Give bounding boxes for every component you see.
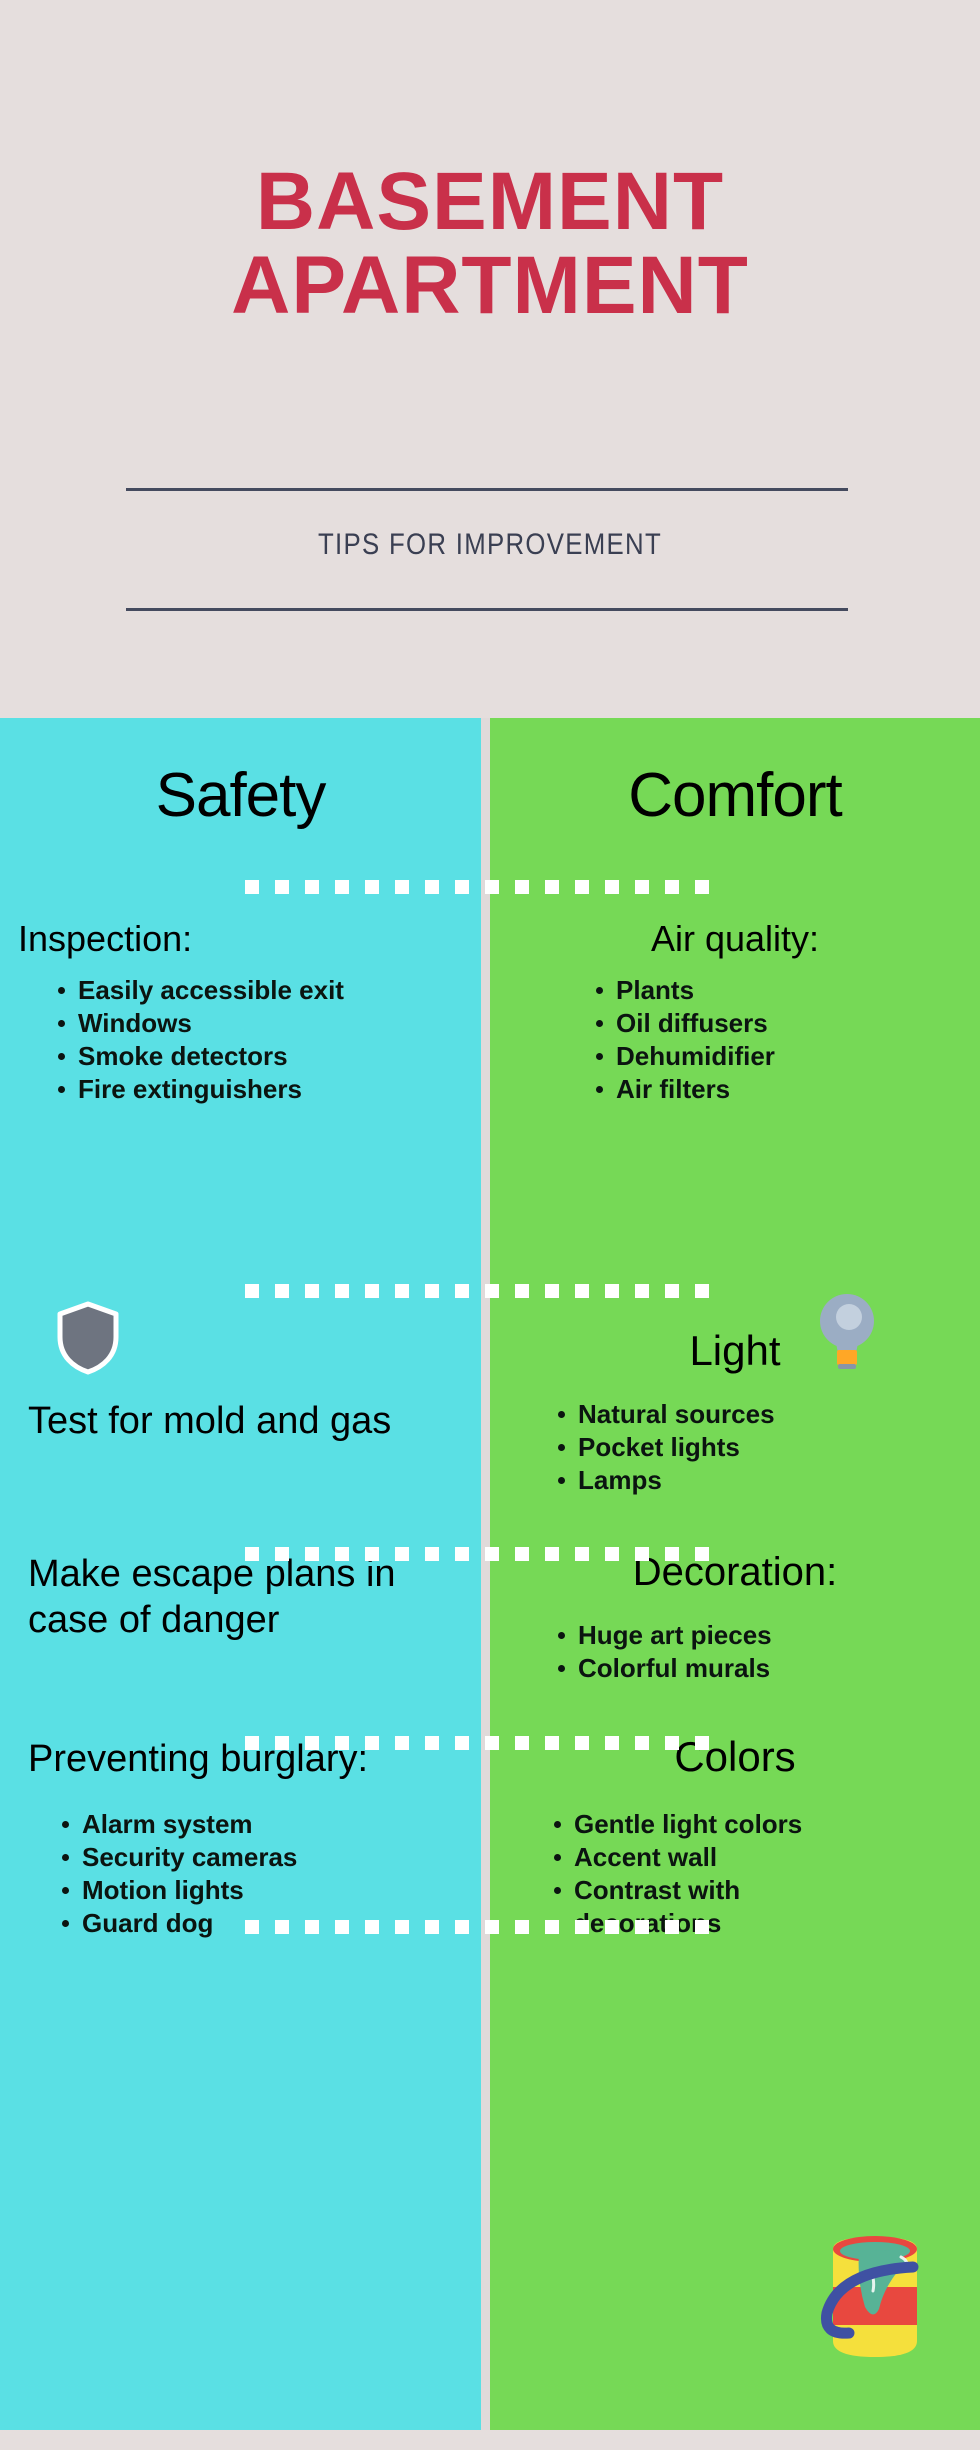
list-item: Air filters [590,1073,980,1106]
safety-column-heading: Safety [0,760,481,831]
light-list: Natural sources Pocket lights Lamps [552,1398,980,1497]
list-item: Oil diffusers [590,1007,980,1040]
list-item: Alarm system [56,1808,468,1841]
list-item: Lamps [552,1464,980,1497]
list-item: Colorful murals [552,1652,980,1685]
list-item: Pocket lights [552,1431,980,1464]
section-title-inspection: Inspection: [18,918,463,960]
page-title: BASEMENT APARTMENT [0,160,980,328]
section-preventing-burglary: Preventing burglary: Alarm system Securi… [28,1736,468,1940]
list-item: Dehumidifier [590,1040,980,1073]
paint-bucket-icon [815,2221,935,2371]
shield-icon [56,1301,120,1375]
section-colors: Colors Gentle light colors Accent wall C… [490,1736,980,1940]
list-item: Huge art pieces [552,1619,980,1652]
decoration-list: Huge art pieces Colorful murals [552,1619,980,1685]
title-line-1: BASEMENT [0,160,980,244]
header-section: BASEMENT APARTMENT TIPS FOR IMPROVEMENT [0,0,980,718]
section-decoration: Decoration: Huge art pieces Colorful mur… [490,1551,980,1685]
column-gutter [481,718,490,2430]
statement-mold-gas: Test for mold and gas [28,1398,448,1444]
list-item: Windows [52,1007,463,1040]
air-quality-list: Plants Oil diffusers Dehumidifier Air fi… [590,974,980,1106]
subtitle: TIPS FOR IMPROVEMENT [69,528,912,562]
list-item: Motion lights [56,1874,468,1907]
divider-dots-4 [245,1736,725,1750]
list-item: Natural sources [552,1398,980,1431]
infographic-page: BASEMENT APARTMENT TIPS FOR IMPROVEMENT … [0,0,980,2450]
list-item: Fire extinguishers [52,1073,463,1106]
divider-dots-3 [245,1547,725,1561]
safety-column: Safety Inspection: Easily accessible exi… [0,718,481,2430]
divider-dots-2 [245,1284,725,1298]
comfort-column: Comfort Air quality: Plants Oil diffuser… [490,718,980,2430]
statement-escape-plans: Make escape plans in case of danger [28,1551,458,1643]
list-item: Gentle light colors [548,1808,980,1841]
divider-dots-1 [245,880,725,894]
lightbulb-icon [816,1290,878,1372]
section-inspection: Inspection: Easily accessible exit Windo… [18,918,463,1106]
bottom-strip [0,2430,980,2450]
divider-dots-5 [245,1920,725,1934]
section-mold-gas: Test for mold and gas [28,1398,448,1444]
list-item: Accent wall [548,1841,980,1874]
comfort-column-heading: Comfort [490,760,980,831]
list-item: Easily accessible exit [52,974,463,1007]
inspection-list: Easily accessible exit Windows Smoke det… [18,974,463,1106]
section-escape-plans: Make escape plans in case of danger [28,1551,458,1643]
section-title-light: Light [490,1330,980,1372]
title-rule-bottom [126,608,848,611]
title-rule-top [126,488,848,491]
section-air-quality: Air quality: Plants Oil diffusers Dehumi… [490,918,980,1106]
list-item: Smoke detectors [52,1040,463,1073]
section-light: Light Natural sources Pocket lights Lamp… [490,1330,980,1497]
title-line-2: APARTMENT [0,244,980,328]
section-title-air-quality: Air quality: [490,918,980,960]
list-item: Plants [590,974,980,1007]
list-item: Security cameras [56,1841,468,1874]
